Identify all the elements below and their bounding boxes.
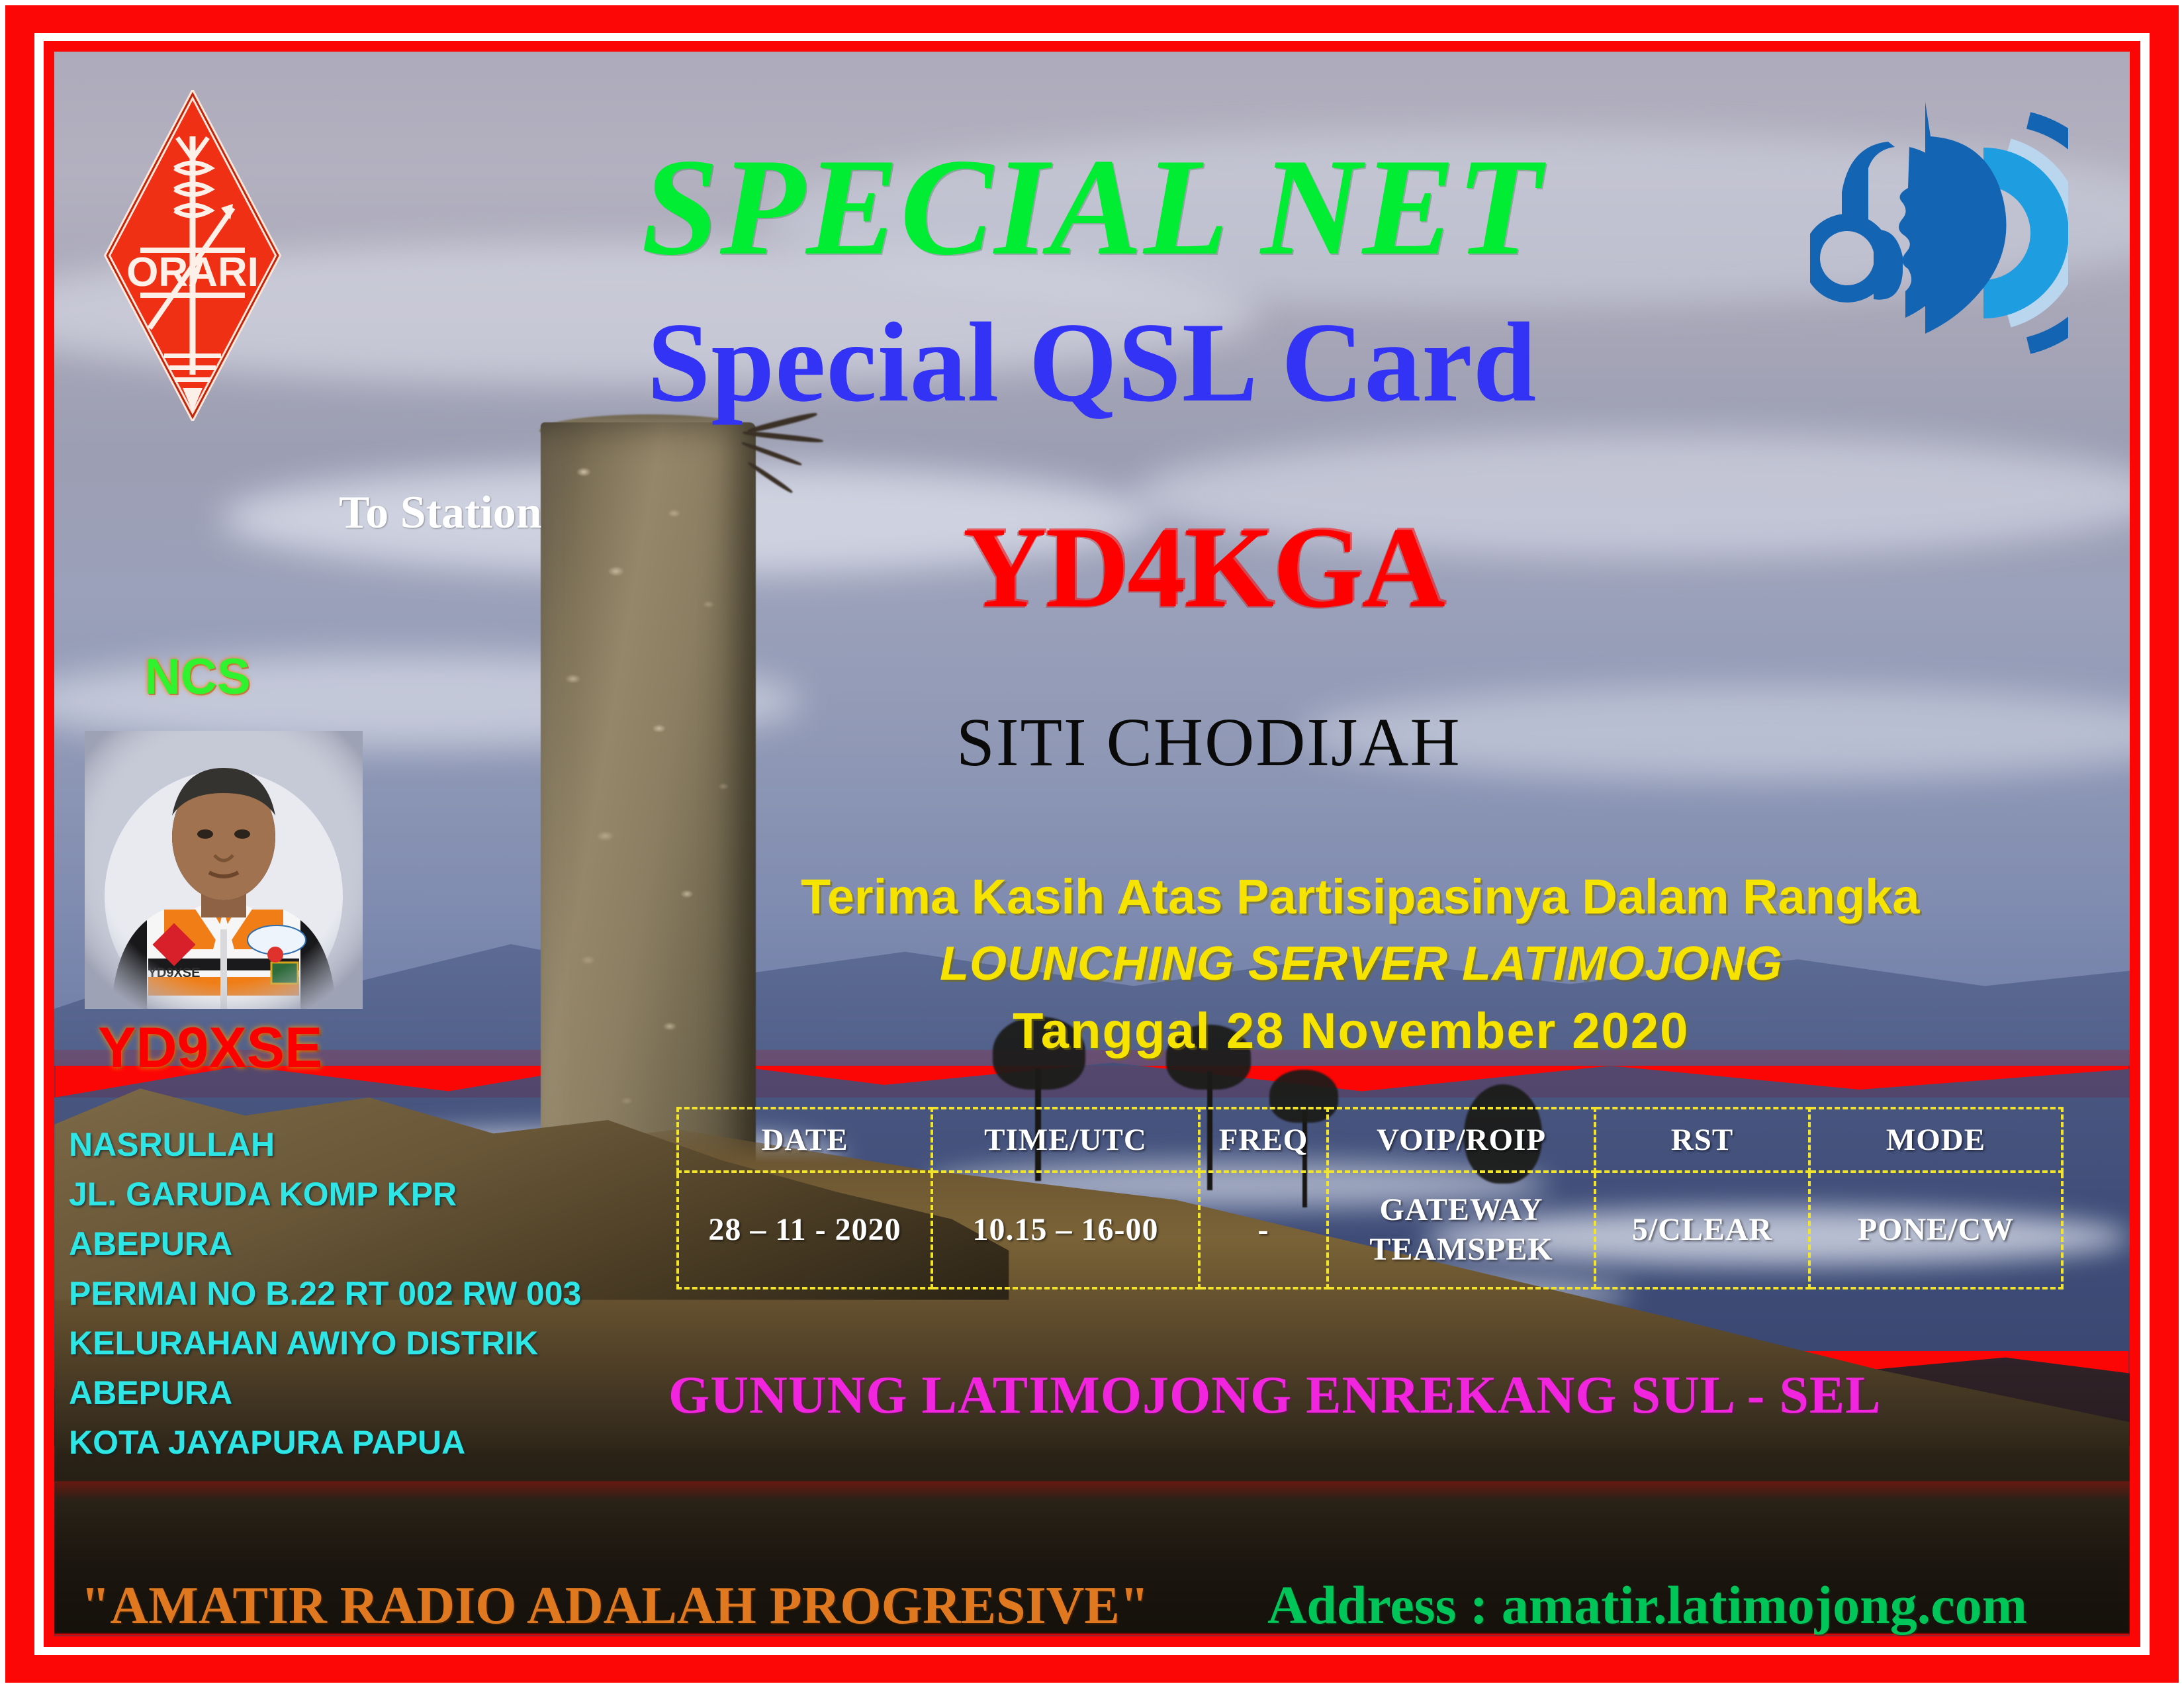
thanks-line-3: Tanggal 28 November 2020 [1013, 1006, 1689, 1056]
address-line: ABEPURA [69, 1219, 581, 1269]
address-line: KOTA JAYAPURA PAPUA [69, 1418, 581, 1468]
cell-mode: PONE/CW [1809, 1172, 2062, 1288]
address-line: JL. GARUDA KOMP KPR [69, 1170, 581, 1219]
address-line: NASRULLAH [69, 1120, 581, 1170]
qso-details-table: DATE TIME/UTC FREQ VOIP/ROIP RST MODE 28… [676, 1107, 2064, 1289]
page-title: SPECIAL NET [0, 138, 2184, 277]
cell-date: 28 – 11 - 2020 [678, 1172, 932, 1288]
table-header-time: TIME/UTC [932, 1108, 1199, 1172]
recipient-operator-name: SITI CHODIJAH [956, 708, 1461, 777]
cell-rst: 5/CLEAR [1595, 1172, 1809, 1288]
table-header-rst: RST [1595, 1108, 1809, 1172]
recipient-callsign: YD4KGA [963, 510, 1444, 626]
table-header-row: DATE TIME/UTC FREQ VOIP/ROIP RST MODE [678, 1108, 2062, 1172]
cell-time: 10.15 – 16-00 [932, 1172, 1199, 1288]
address-line: ABEPURA [69, 1368, 581, 1418]
ncs-operator-photo: YD9XSE [85, 731, 363, 1009]
footer-motto: "AMATIR RADIO ADALAH PROGRESIVE" [81, 1579, 1149, 1632]
ncs-callsign: YD9XSE [98, 1019, 322, 1076]
address-line: PERMAI NO B.22 RT 002 RW 003 [69, 1269, 581, 1319]
cell-freq: - [1199, 1172, 1328, 1288]
table-header-voip-roip: VOIP/ROIP [1328, 1108, 1595, 1172]
table-header-freq: FREQ [1199, 1108, 1328, 1172]
page-subtitle: Special QSL Card [0, 306, 2184, 420]
thanks-line-1: Terima Kasih Atas Partisipasinya Dalam R… [801, 872, 1919, 921]
table-header-mode: MODE [1809, 1108, 2062, 1172]
cell-voip-roip-line2: TEAMSPEK [1329, 1230, 1594, 1270]
to-station-label: To Station [339, 490, 542, 536]
table-row: 28 – 11 - 2020 10.15 – 16-00 - GATEWAY T… [678, 1172, 2062, 1288]
location-caption: GUNUNG LATIMOJONG ENREKANG SUL - SEL [668, 1369, 1882, 1422]
table-header-date: DATE [678, 1108, 932, 1172]
footer-website: Address : amatir.latimojong.com [1267, 1578, 2027, 1632]
address-line: KELURAHAN AWIYO DISTRIK [69, 1319, 581, 1368]
cell-voip-roip: GATEWAY TEAMSPEK [1328, 1172, 1595, 1288]
ncs-label: NCS [144, 652, 250, 702]
thanks-line-2: LOUNCHING SERVER LATIMOJONG [940, 940, 1783, 988]
cell-voip-roip-line1: GATEWAY [1329, 1190, 1594, 1230]
sender-address: NASRULLAHJL. GARUDA KOMP KPRABEPURAPERMA… [69, 1120, 581, 1468]
qsl-card: ORARI SPECIAL NET Special QSL Card To St… [0, 0, 2184, 1688]
